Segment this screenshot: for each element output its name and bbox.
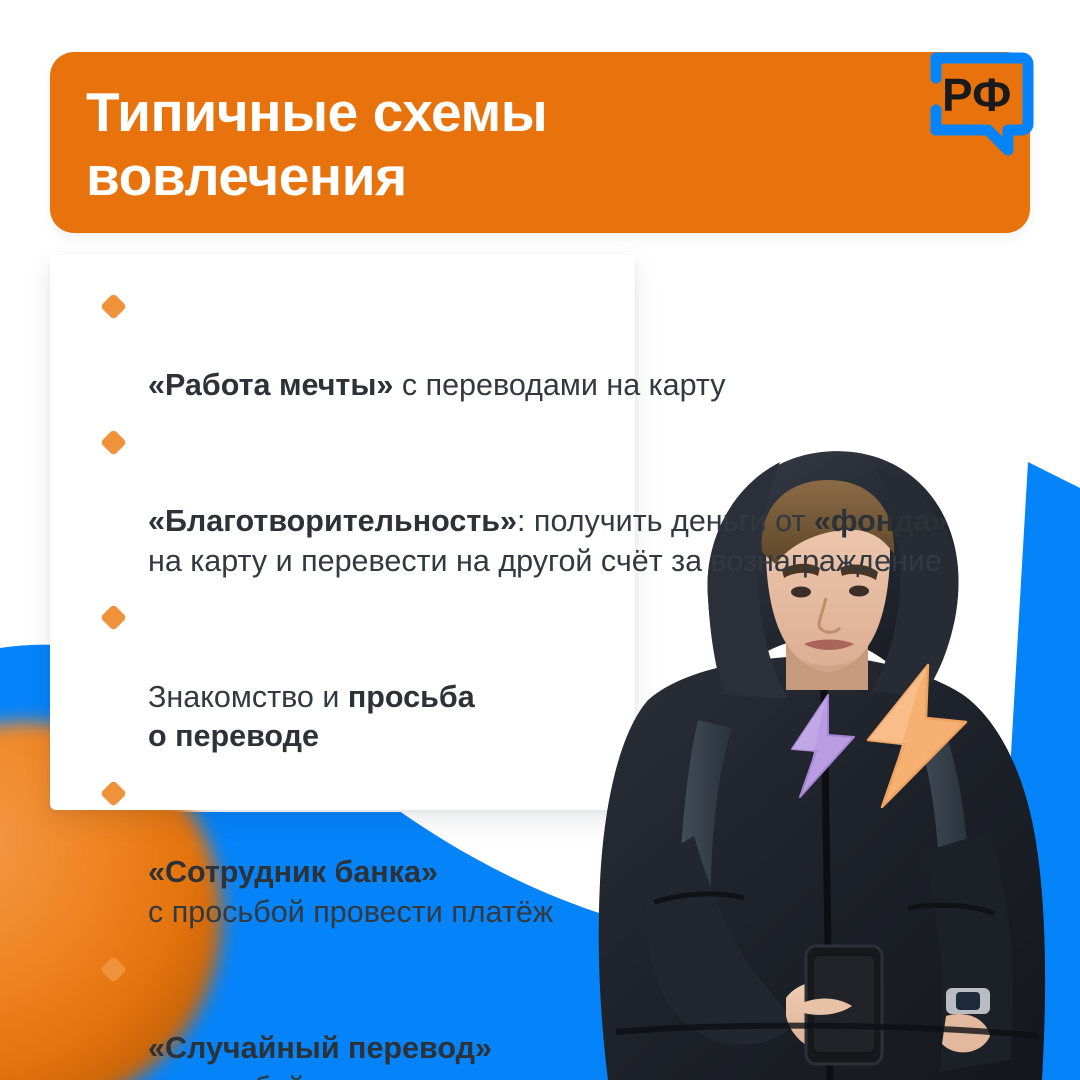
rf-logo-text: РФ	[942, 69, 1011, 121]
list-item-text: «Случайный перевод» с просьбой вернуть д…	[148, 1031, 529, 1080]
speech-bubble-icon: РФ	[922, 48, 1038, 164]
list-item-text: «Благотворительность»: получить деньги о…	[148, 504, 948, 578]
header-bar: Типичные схемы вовлечения	[50, 52, 1030, 233]
diamond-bullet-icon	[100, 956, 127, 983]
list-item: «Сотрудник банка» с просьбой провести пл…	[102, 774, 768, 933]
page-title: Типичные схемы вовлечения	[86, 80, 906, 209]
list-item: «Благотворительность»: получить деньги о…	[102, 423, 948, 582]
diamond-bullet-icon	[100, 780, 127, 807]
list-item-text: «Сотрудник банка» с просьбой провести пл…	[148, 855, 553, 929]
schemes-list: «Работа мечты» с переводами на карту «Бл…	[102, 287, 982, 1080]
rf-logo[interactable]: РФ	[922, 48, 1038, 164]
diamond-bullet-icon	[100, 605, 127, 632]
list-item: «Случайный перевод» с просьбой вернуть д…	[102, 950, 768, 1080]
list-item: «Работа мечты» с переводами на карту	[102, 287, 948, 406]
diamond-bullet-icon	[100, 429, 127, 456]
list-item: Знакомство и просьба о переводе	[102, 598, 768, 757]
infographic-poster: Типичные схемы вовлечения РФ «Работа меч…	[0, 0, 1080, 1080]
list-item-text: Знакомство и просьба о переводе	[148, 680, 475, 754]
list-item-text: «Работа мечты» с переводами на карту	[148, 368, 725, 402]
diamond-bullet-icon	[100, 293, 127, 320]
